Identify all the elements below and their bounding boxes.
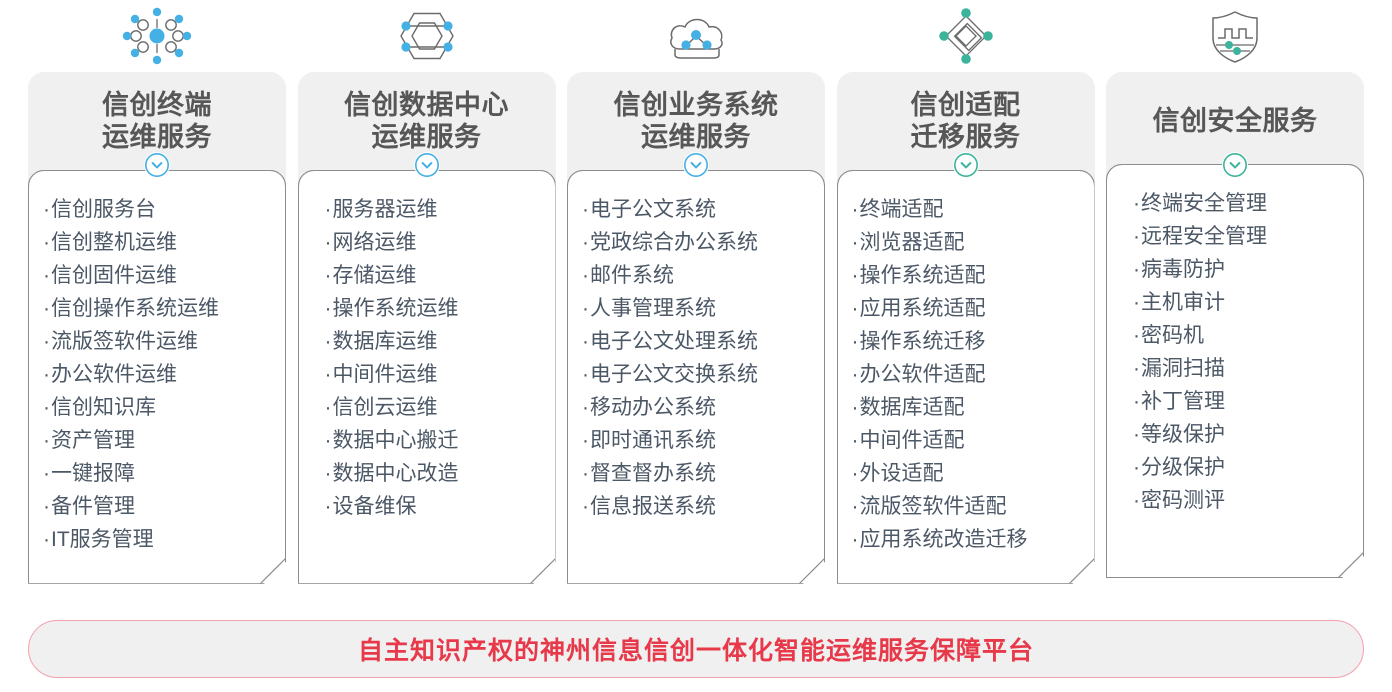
list-item[interactable]: ·督查督办系统 xyxy=(582,457,816,490)
card-chamfer-corner xyxy=(1069,558,1095,584)
list-item[interactable]: ·病毒防护 xyxy=(1133,253,1355,286)
list-item-label: 信创知识库 xyxy=(51,396,156,419)
list-item-label: 补丁管理 xyxy=(1141,390,1225,413)
list-item-label: 远程安全管理 xyxy=(1141,225,1267,248)
column-list-card: ·服务器运维·网络运维·存储运维·操作系统运维·数据库运维·中间件运维·信创云运… xyxy=(298,170,556,584)
list-item[interactable]: ·密码机 xyxy=(1133,319,1355,352)
list-item[interactable]: ·数据中心搬迁 xyxy=(325,424,547,457)
chevron-down-icon[interactable] xyxy=(683,152,709,178)
list-item-label: 终端安全管理 xyxy=(1141,192,1267,215)
service-item-list: ·电子公文系统·党政综合办公系统·邮件系统·人事管理系统·电子公文处理系统·电子… xyxy=(568,193,824,523)
list-item[interactable]: ·中间件适配 xyxy=(852,424,1086,457)
list-item-label: 一键报障 xyxy=(51,462,135,485)
list-item-label: 操作系统迁移 xyxy=(860,330,986,353)
bullet-icon: · xyxy=(1133,324,1140,347)
diamond-nodes-icon xyxy=(837,0,1095,72)
list-item[interactable]: ·信创知识库 xyxy=(43,391,277,424)
bullet-icon: · xyxy=(852,198,859,221)
list-item[interactable]: ·终端安全管理 xyxy=(1133,187,1355,220)
list-item[interactable]: ·信创操作系统运维 xyxy=(43,292,277,325)
service-column-3: 信创业务系统 运维服务·电子公文系统·党政综合办公系统·邮件系统·人事管理系统·… xyxy=(567,0,825,600)
bullet-icon: · xyxy=(1133,291,1140,314)
list-item-label: 电子公文处理系统 xyxy=(590,330,758,353)
service-item-list: ·信创服务台·信创整机运维·信创固件运维·信创操作系统运维·流版签软件运维·办公… xyxy=(29,193,285,556)
bullet-icon: · xyxy=(1133,390,1140,413)
list-item-label: 数据库运维 xyxy=(333,330,438,353)
list-item-label: 移动办公系统 xyxy=(590,396,716,419)
bullet-icon: · xyxy=(582,198,589,221)
list-item-label: 应用系统改造迁移 xyxy=(860,528,1028,551)
list-item[interactable]: ·数据库运维 xyxy=(325,325,547,358)
list-item-label: 电子公文交换系统 xyxy=(590,363,758,386)
list-item[interactable]: ·信创服务台 xyxy=(43,193,277,226)
list-item[interactable]: ·人事管理系统 xyxy=(582,292,816,325)
list-item-label: 数据中心改造 xyxy=(333,462,459,485)
list-item[interactable]: ·操作系统迁移 xyxy=(852,325,1086,358)
list-item-label: 操作系统适配 xyxy=(860,264,986,287)
list-item-label: 浏览器适配 xyxy=(860,231,965,254)
service-columns: 信创终端 运维服务·信创服务台·信创整机运维·信创固件运维·信创操作系统运维·流… xyxy=(0,0,1392,600)
bullet-icon: · xyxy=(1133,357,1140,380)
platform-banner-text: 自主知识产权的神州信息信创一体化智能运维服务保障平台 xyxy=(358,631,1034,667)
service-item-list: ·服务器运维·网络运维·存储运维·操作系统运维·数据库运维·中间件运维·信创云运… xyxy=(299,193,555,523)
list-item[interactable]: ·终端适配 xyxy=(852,193,1086,226)
list-item[interactable]: ·漏洞扫描 xyxy=(1133,352,1355,385)
column-list-card: ·终端安全管理·远程安全管理·病毒防护·主机审计·密码机·漏洞扫描·补丁管理·等… xyxy=(1106,164,1364,578)
list-item[interactable]: ·信创云运维 xyxy=(325,391,547,424)
bullet-icon: · xyxy=(582,231,589,254)
shield-security-icon xyxy=(1106,0,1364,72)
list-item[interactable]: ·备件管理 xyxy=(43,490,277,523)
list-item-label: 信创服务台 xyxy=(51,198,156,221)
list-item[interactable]: ·密码测评 xyxy=(1133,484,1355,517)
column-list-card: ·信创服务台·信创整机运维·信创固件运维·信创操作系统运维·流版签软件运维·办公… xyxy=(28,170,286,584)
bullet-icon: · xyxy=(325,330,332,353)
list-item[interactable]: ·补丁管理 xyxy=(1133,385,1355,418)
list-item-label: 分级保护 xyxy=(1141,456,1225,479)
list-item-label: 办公软件运维 xyxy=(51,363,177,386)
list-item[interactable]: ·电子公文交换系统 xyxy=(582,358,816,391)
list-item-label: 流版签软件运维 xyxy=(51,330,198,353)
list-item[interactable]: ·操作系统运维 xyxy=(325,292,547,325)
list-item[interactable]: ·流版签软件运维 xyxy=(43,325,277,358)
bullet-icon: · xyxy=(582,495,589,518)
list-item-label: 操作系统运维 xyxy=(333,297,459,320)
list-item-label: 党政综合办公系统 xyxy=(590,231,758,254)
list-item-label: 流版签软件适配 xyxy=(860,495,1007,518)
bullet-icon: · xyxy=(325,264,332,287)
bullet-icon: · xyxy=(852,231,859,254)
list-item-label: 人事管理系统 xyxy=(590,297,716,320)
platform-banner: 自主知识产权的神州信息信创一体化智能运维服务保障平台 xyxy=(28,620,1364,678)
list-item-label: 数据中心搬迁 xyxy=(333,429,459,452)
list-item[interactable]: ·移动办公系统 xyxy=(582,391,816,424)
list-item[interactable]: ·网络运维 xyxy=(325,226,547,259)
bullet-icon: · xyxy=(43,462,50,485)
bullet-icon: · xyxy=(582,264,589,287)
service-column-1: 信创终端 运维服务·信创服务台·信创整机运维·信创固件运维·信创操作系统运维·流… xyxy=(28,0,286,600)
list-item-label: 信创固件运维 xyxy=(51,264,177,287)
bullet-icon: · xyxy=(1133,225,1140,248)
bullet-icon: · xyxy=(1133,423,1140,446)
list-item[interactable]: ·即时通讯系统 xyxy=(582,424,816,457)
list-item-label: 信息报送系统 xyxy=(590,495,716,518)
bullet-icon: · xyxy=(852,429,859,452)
bullet-icon: · xyxy=(582,297,589,320)
list-item[interactable]: ·邮件系统 xyxy=(582,259,816,292)
bullet-icon: · xyxy=(852,495,859,518)
list-item[interactable]: ·服务器运维 xyxy=(325,193,547,226)
list-item-label: 应用系统适配 xyxy=(860,297,986,320)
list-item[interactable]: ·浏览器适配 xyxy=(852,226,1086,259)
card-chamfer-corner xyxy=(799,558,825,584)
column-list-card: ·电子公文系统·党政综合办公系统·邮件系统·人事管理系统·电子公文处理系统·电子… xyxy=(567,170,825,584)
bullet-icon: · xyxy=(1133,456,1140,479)
column-title: 信创终端 运维服务 xyxy=(102,90,212,154)
list-item[interactable]: ·办公软件运维 xyxy=(43,358,277,391)
bullet-icon: · xyxy=(325,297,332,320)
card-chamfer-corner xyxy=(530,558,556,584)
list-item-label: 终端适配 xyxy=(860,198,944,221)
chevron-down-icon[interactable] xyxy=(1222,152,1248,178)
service-item-list: ·终端适配·浏览器适配·操作系统适配·应用系统适配·操作系统迁移·办公软件适配·… xyxy=(838,193,1094,556)
bullet-icon: · xyxy=(43,363,50,386)
list-item[interactable]: ·信创固件运维 xyxy=(43,259,277,292)
list-item-label: 设备维保 xyxy=(333,495,417,518)
bullet-icon: · xyxy=(43,198,50,221)
service-matrix-board: 信创终端 运维服务·信创服务台·信创整机运维·信创固件运维·信创操作系统运维·流… xyxy=(0,0,1392,692)
list-item[interactable]: ·远程安全管理 xyxy=(1133,220,1355,253)
list-item-label: 数据库适配 xyxy=(860,396,965,419)
list-item[interactable]: ·中间件运维 xyxy=(325,358,547,391)
list-item-label: 外设适配 xyxy=(860,462,944,485)
bullet-icon: · xyxy=(325,396,332,419)
column-title: 信创适配 迁移服务 xyxy=(911,90,1021,154)
column-title: 信创业务系统 运维服务 xyxy=(614,90,779,154)
list-item[interactable]: ·外设适配 xyxy=(852,457,1086,490)
bullet-icon: · xyxy=(1133,258,1140,281)
bullet-icon: · xyxy=(43,231,50,254)
card-chamfer-corner xyxy=(260,558,286,584)
bullet-icon: · xyxy=(325,462,332,485)
list-item[interactable]: ·流版签软件适配 xyxy=(852,490,1086,523)
list-item[interactable]: ·党政综合办公系统 xyxy=(582,226,816,259)
list-item[interactable]: ·主机审计 xyxy=(1133,286,1355,319)
list-item[interactable]: ·应用系统改造迁移 xyxy=(852,523,1086,556)
list-item[interactable]: ·应用系统适配 xyxy=(852,292,1086,325)
list-item-label: IT服务管理 xyxy=(51,528,154,551)
bullet-icon: · xyxy=(43,264,50,287)
chevron-down-icon[interactable] xyxy=(414,152,440,178)
list-item[interactable]: ·办公软件适配 xyxy=(852,358,1086,391)
list-item[interactable]: ·信创整机运维 xyxy=(43,226,277,259)
bullet-icon: · xyxy=(852,528,859,551)
list-item-label: 密码机 xyxy=(1141,324,1204,347)
list-item-label: 病毒防护 xyxy=(1141,258,1225,281)
service-item-list: ·终端安全管理·远程安全管理·病毒防护·主机审计·密码机·漏洞扫描·补丁管理·等… xyxy=(1107,187,1363,517)
bullet-icon: · xyxy=(582,429,589,452)
chevron-down-icon[interactable] xyxy=(144,152,170,178)
column-title: 信创数据中心 运维服务 xyxy=(344,90,509,154)
bullet-icon: · xyxy=(43,495,50,518)
radial-network-icon xyxy=(28,0,286,72)
list-item-label: 服务器运维 xyxy=(333,198,438,221)
list-item-label: 办公软件适配 xyxy=(860,363,986,386)
list-item[interactable]: ·数据中心改造 xyxy=(325,457,547,490)
list-item[interactable]: ·电子公文系统 xyxy=(582,193,816,226)
column-list-card: ·终端适配·浏览器适配·操作系统适配·应用系统适配·操作系统迁移·办公软件适配·… xyxy=(837,170,1095,584)
bullet-icon: · xyxy=(325,429,332,452)
list-item-label: 密码测评 xyxy=(1141,489,1225,512)
bullet-icon: · xyxy=(582,396,589,419)
list-item-label: 等级保护 xyxy=(1141,423,1225,446)
list-item[interactable]: ·IT服务管理 xyxy=(43,523,277,556)
bullet-icon: · xyxy=(582,462,589,485)
service-column-4: 信创适配 迁移服务·终端适配·浏览器适配·操作系统适配·应用系统适配·操作系统迁… xyxy=(837,0,1095,600)
list-item[interactable]: ·分级保护 xyxy=(1133,451,1355,484)
bullet-icon: · xyxy=(582,363,589,386)
list-item[interactable]: ·信息报送系统 xyxy=(582,490,816,523)
list-item[interactable]: ·一键报障 xyxy=(43,457,277,490)
list-item-label: 邮件系统 xyxy=(590,264,674,287)
bullet-icon: · xyxy=(1133,489,1140,512)
list-item-label: 督查督办系统 xyxy=(590,462,716,485)
bullet-icon: · xyxy=(43,429,50,452)
bullet-icon: · xyxy=(852,330,859,353)
list-item-label: 信创操作系统运维 xyxy=(51,297,219,320)
list-item-label: 电子公文系统 xyxy=(590,198,716,221)
list-item[interactable]: ·资产管理 xyxy=(43,424,277,457)
list-item-label: 信创整机运维 xyxy=(51,231,177,254)
list-item[interactable]: ·数据库适配 xyxy=(852,391,1086,424)
list-item[interactable]: ·设备维保 xyxy=(325,490,547,523)
bullet-icon: · xyxy=(852,264,859,287)
list-item-label: 信创云运维 xyxy=(333,396,438,419)
bullet-icon: · xyxy=(325,363,332,386)
list-item-label: 中间件适配 xyxy=(860,429,965,452)
bullet-icon: · xyxy=(852,297,859,320)
bullet-icon: · xyxy=(852,462,859,485)
list-item-label: 网络运维 xyxy=(333,231,417,254)
bullet-icon: · xyxy=(325,495,332,518)
bullet-icon: · xyxy=(43,297,50,320)
bullet-icon: · xyxy=(1133,192,1140,215)
service-column-5: 信创安全服务·终端安全管理·远程安全管理·病毒防护·主机审计·密码机·漏洞扫描·… xyxy=(1106,0,1364,600)
service-column-2: 信创数据中心 运维服务·服务器运维·网络运维·存储运维·操作系统运维·数据库运维… xyxy=(298,0,556,600)
list-item-label: 漏洞扫描 xyxy=(1141,357,1225,380)
list-item-label: 即时通讯系统 xyxy=(590,429,716,452)
list-item-label: 中间件运维 xyxy=(333,363,438,386)
chevron-down-icon[interactable] xyxy=(953,152,979,178)
bullet-icon: · xyxy=(852,396,859,419)
list-item[interactable]: ·操作系统适配 xyxy=(852,259,1086,292)
list-item-label: 主机审计 xyxy=(1141,291,1225,314)
list-item[interactable]: ·电子公文处理系统 xyxy=(582,325,816,358)
list-item[interactable]: ·存储运维 xyxy=(325,259,547,292)
bullet-icon: · xyxy=(43,330,50,353)
card-chamfer-corner xyxy=(1338,552,1364,578)
list-item-label: 资产管理 xyxy=(51,429,135,452)
list-item[interactable]: ·等级保护 xyxy=(1133,418,1355,451)
bullet-icon: · xyxy=(325,198,332,221)
bullet-icon: · xyxy=(325,231,332,254)
column-title: 信创安全服务 xyxy=(1153,106,1318,138)
bullet-icon: · xyxy=(582,330,589,353)
bullet-icon: · xyxy=(43,528,50,551)
bullet-icon: · xyxy=(43,396,50,419)
list-item-label: 存储运维 xyxy=(333,264,417,287)
hexagon-cluster-icon xyxy=(298,0,556,72)
list-item-label: 备件管理 xyxy=(51,495,135,518)
cloud-network-icon xyxy=(567,0,825,72)
bullet-icon: · xyxy=(852,363,859,386)
